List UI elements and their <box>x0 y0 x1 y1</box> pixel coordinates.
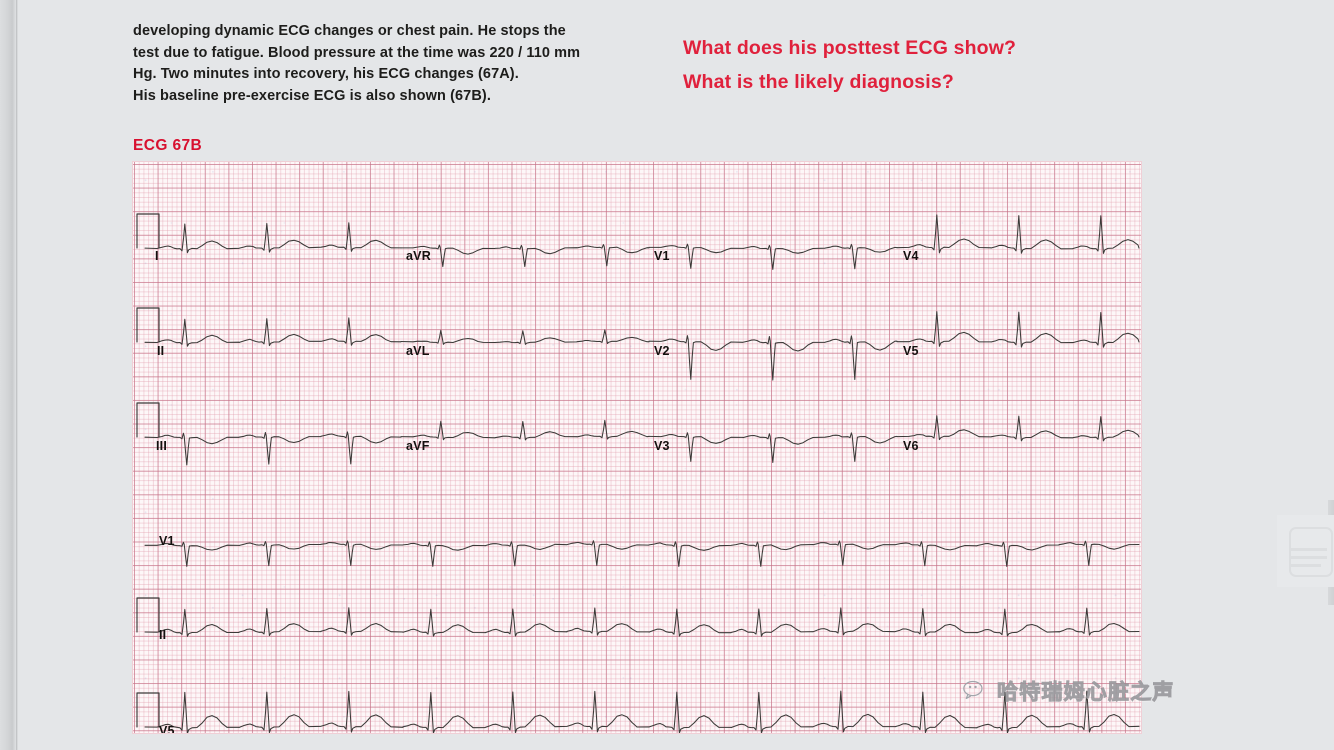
case-stem-text: developing dynamic ECG changes or chest … <box>133 21 613 107</box>
lead-label-ii: II <box>157 344 164 358</box>
question-list: What does his posttest ECG show? What is… <box>683 36 1113 104</box>
wechat-icon <box>963 680 991 702</box>
lead-label-avf: aVF <box>406 439 430 453</box>
stem-line-1: developing dynamic ECG changes or chest … <box>133 21 613 43</box>
rhythm-label-ii: II <box>159 628 166 642</box>
watermark: 哈特瑞姆心脏之声 <box>963 676 1175 706</box>
lead-label-avl: aVL <box>406 344 430 358</box>
lead-label-v3: V3 <box>654 439 670 453</box>
stem-line-3: Hg. Two minutes into recovery, his ECG c… <box>133 64 613 86</box>
page-left-edge-shadow <box>0 0 17 750</box>
stem-line-2: test due to fatigue. Blood pressure at t… <box>133 43 613 65</box>
page-left-edge-line <box>16 0 18 750</box>
lead-label-iii: III <box>156 439 167 453</box>
lead-label-i: I <box>155 249 159 263</box>
lead-label-v1: V1 <box>654 249 670 263</box>
ecg-waveform-trace <box>133 162 1141 733</box>
lead-label-v6: V6 <box>903 439 919 453</box>
lead-label-v5: V5 <box>903 344 919 358</box>
rhythm-label-v1: V1 <box>159 534 175 548</box>
document-list-icon <box>1289 527 1333 577</box>
ecg-figure-caption: ECG 67B <box>133 137 202 155</box>
lead-label-avr: aVR <box>406 249 431 263</box>
rhythm-label-v5: V5 <box>159 724 175 734</box>
lead-label-v4: V4 <box>903 249 919 263</box>
right-side-panel[interactable] <box>1277 515 1334 587</box>
lead-label-v2: V2 <box>654 344 670 358</box>
stem-line-4: His baseline pre-exercise ECG is also sh… <box>133 86 613 108</box>
question-1: What does his posttest ECG show? <box>683 36 1113 61</box>
question-2: What is the likely diagnosis? <box>683 70 1113 95</box>
ecg-figure[interactable]: IaVRV1V4IIaVLV2V5IIIaVFV3V6V1IIV5 <box>132 161 1142 734</box>
watermark-text: 哈特瑞姆心脏之声 <box>997 676 1175 706</box>
